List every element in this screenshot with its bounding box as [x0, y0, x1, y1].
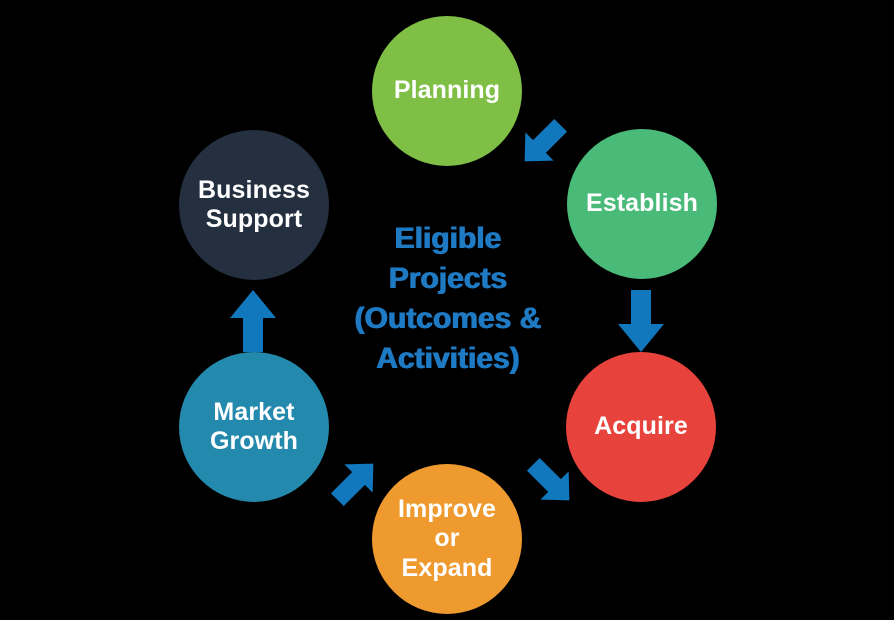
node-planning-label: Planning [394, 76, 500, 105]
node-establish-label: Establish [586, 189, 698, 218]
node-business-support[interactable]: Business Support [179, 130, 329, 280]
node-business-support-label: Business Support [198, 176, 310, 235]
node-market-growth-label: Market Growth [210, 398, 298, 457]
node-acquire[interactable]: Acquire [566, 352, 716, 502]
arrow-down-icon [610, 286, 672, 356]
eligible-projects-cycle-diagram: Planning Establish Acquire Improve or Ex… [0, 0, 894, 620]
arrow-down-right-icon [512, 112, 574, 174]
node-establish[interactable]: Establish [567, 129, 717, 279]
node-market-growth[interactable]: Market Growth [179, 352, 329, 502]
node-acquire-label: Acquire [594, 412, 688, 441]
node-improve-expand-label: Improve or Expand [398, 495, 496, 583]
arrow-up-icon [222, 286, 284, 356]
node-improve-expand[interactable]: Improve or Expand [372, 464, 522, 614]
arrow-up-left-icon [324, 451, 386, 513]
node-planning[interactable]: Planning [372, 16, 522, 166]
diagram-center-title: Eligible Projects (Outcomes & Activities… [320, 219, 576, 379]
arrow-down-left-icon [520, 451, 582, 513]
